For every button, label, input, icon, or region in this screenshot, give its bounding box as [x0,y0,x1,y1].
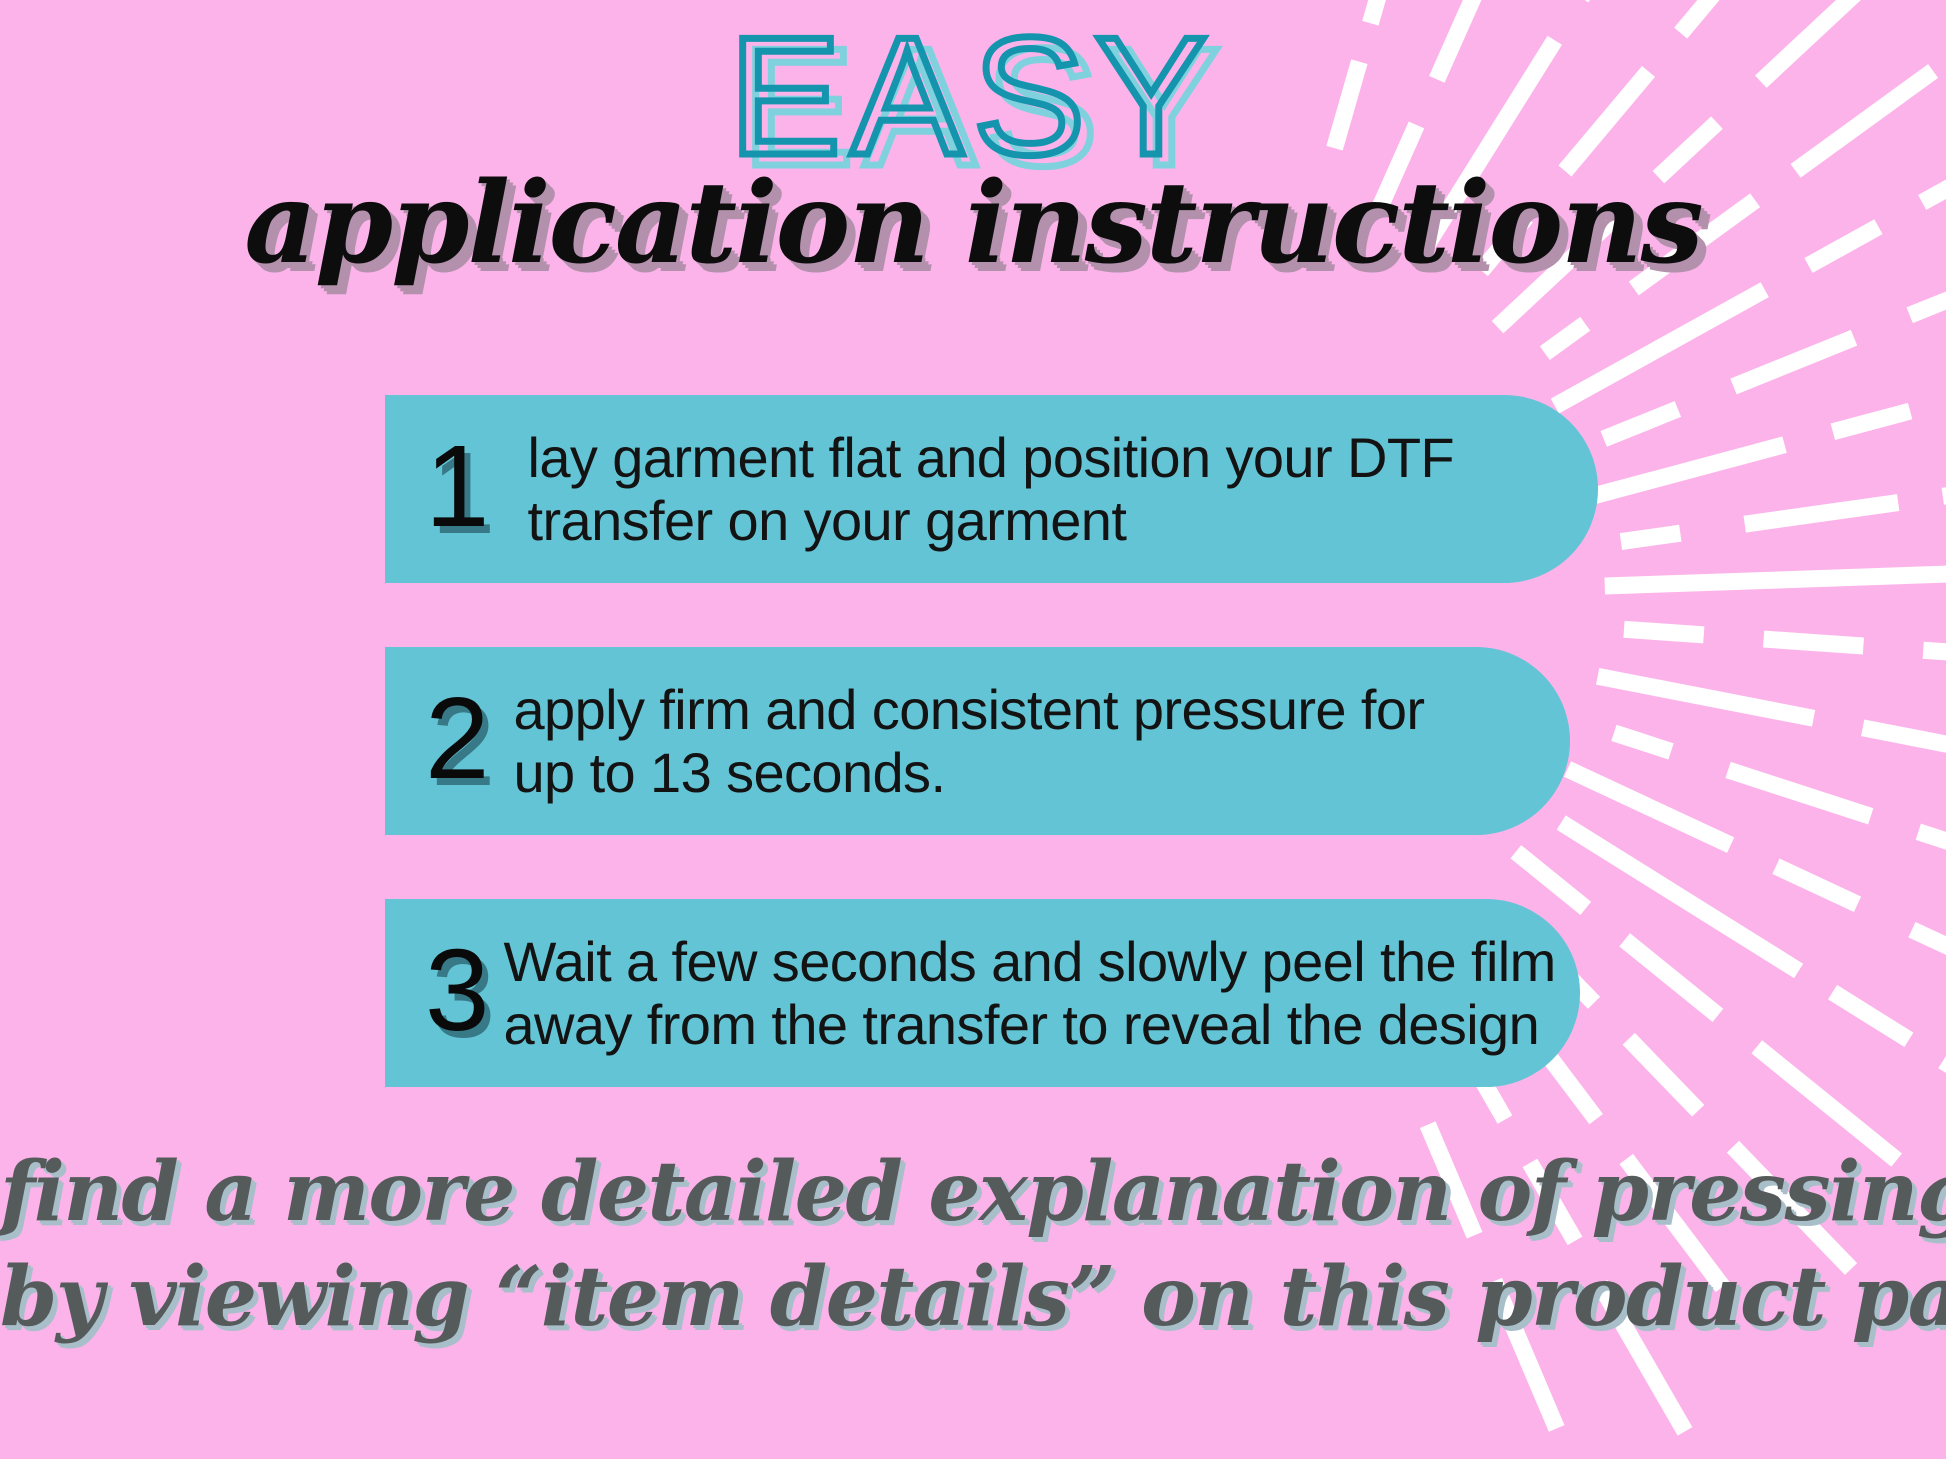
footer-caption-line-1: find a more detailed explanation of pres… [0,1140,1946,1245]
step-item-3: 3 Wait a few seconds and slowly peel the… [385,899,1580,1087]
step-text-line: away from the transfer to reveal the des… [504,993,1556,1056]
step-text-line: transfer on your garment [528,489,1455,552]
step-text-3: Wait a few seconds and slowly peel the f… [504,930,1556,1057]
step-item-2: 2 apply firm and consistent pressure for… [385,647,1570,835]
subheadline-text: application instructions [244,168,1701,280]
step-number-3: 3 [425,932,490,1054]
step-text-line: apply firm and consistent pressure for [514,678,1425,741]
subheadline: application instructions [0,168,1946,280]
footer-caption: find a more detailed explanation of pres… [0,1140,1946,1350]
step-number-2: 2 [425,680,490,802]
step-text-line: up to 13 seconds. [514,741,1425,804]
step-text-line: Wait a few seconds and slowly peel the f… [504,930,1556,993]
step-item-1: 1 lay garment flat and position your DTF… [385,395,1598,583]
footer-caption-line-2: by viewing “item details” on this produc… [0,1245,1946,1350]
steps-list: 1 lay garment flat and position your DTF… [385,395,1615,1087]
step-text-1: lay garment flat and position your DTF t… [528,426,1455,553]
step-text-line: lay garment flat and position your DTF [528,426,1455,489]
poster-canvas: EASY EASY application instructions 1 lay… [0,0,1946,1459]
step-number-1: 1 [425,428,490,550]
step-text-2: apply firm and consistent pressure for u… [514,678,1425,805]
